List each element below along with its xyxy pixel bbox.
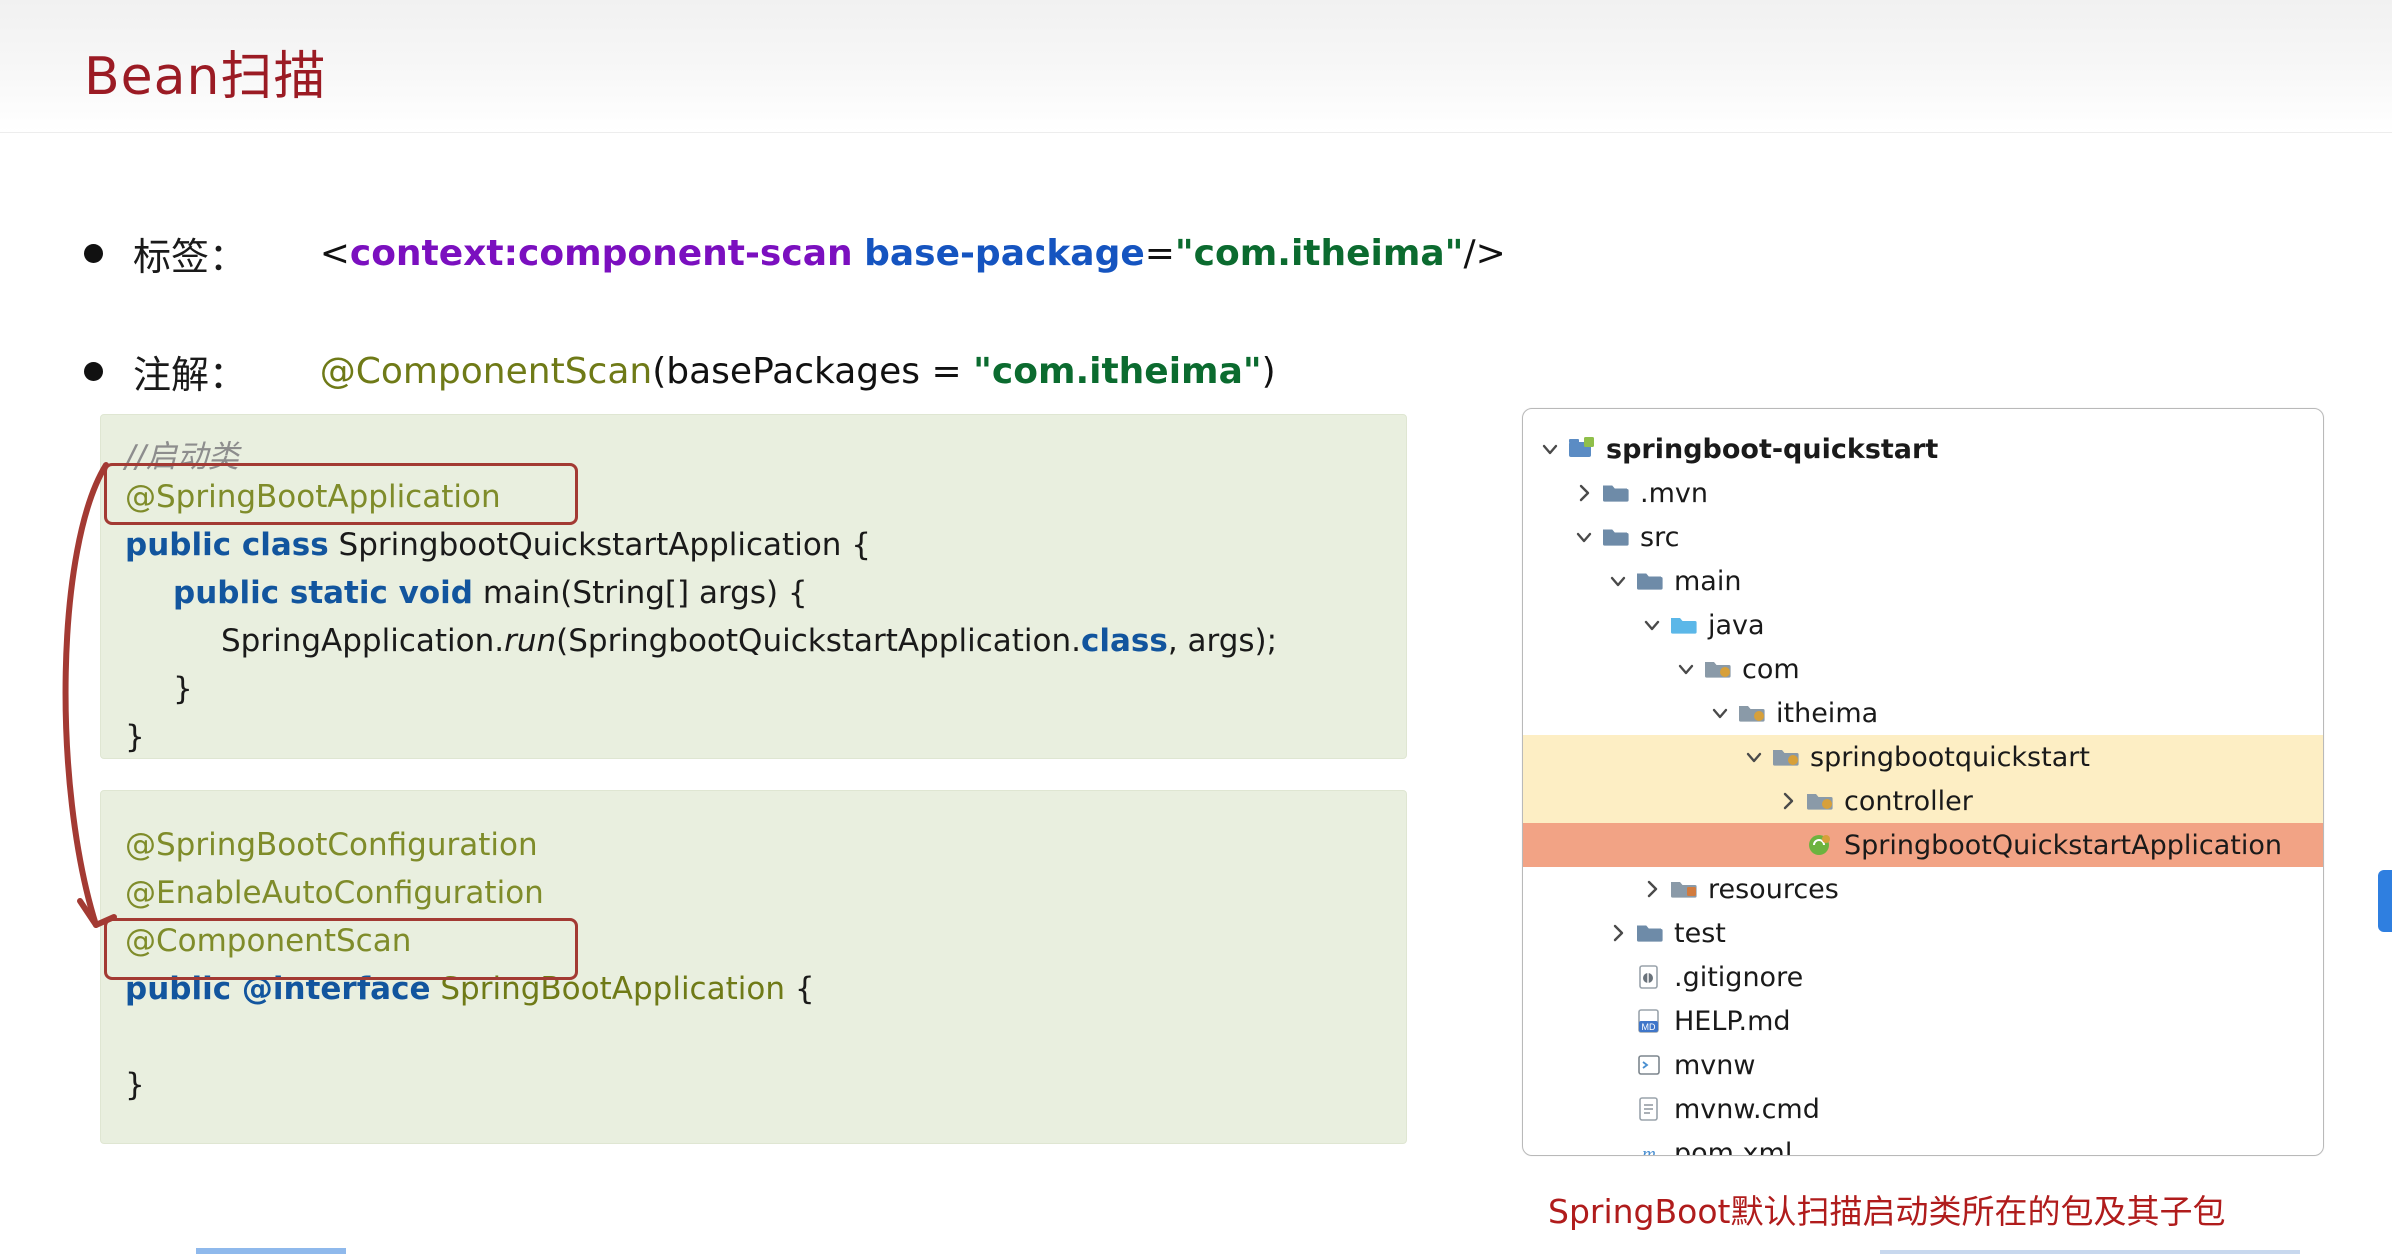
code1-line-3: public static void main(String[] args) { <box>173 575 808 611</box>
bottom-progress-right <box>1880 1250 2300 1254</box>
tree-row[interactable]: mpom.xml <box>1523 1131 2323 1156</box>
bullet-dot-icon <box>84 362 103 381</box>
package-icon <box>1737 700 1767 726</box>
code2-line-0: @SpringBootConfiguration <box>125 827 538 863</box>
tree-row-label: java <box>1708 612 1765 639</box>
svg-text:MD: MD <box>1642 1022 1656 1032</box>
tree-row[interactable]: mvnw.cmd <box>1523 1087 2323 1131</box>
code2-line-1: @EnableAutoConfiguration <box>125 875 544 911</box>
tree-spacer <box>1605 1140 1631 1156</box>
tree-row-label: mvnw <box>1674 1052 1755 1079</box>
connector-arc <box>48 455 168 945</box>
bullet-row-tag: 标签： <context:component-scan base-package… <box>84 192 1506 315</box>
tree-row-label: main <box>1674 568 1741 595</box>
folder-icon <box>1601 524 1631 550</box>
chevron-down-icon[interactable] <box>1707 700 1733 726</box>
code1-line-4: SpringApplication.run(SpringbootQuicksta… <box>221 623 1277 659</box>
tag-code-snippet: <context:component-scan base-package="co… <box>251 192 1506 315</box>
tree-spacer <box>1605 964 1631 990</box>
gitignore-icon <box>1635 964 1665 990</box>
chevron-down-icon[interactable] <box>1673 656 1699 682</box>
tag-code-part-5: "com.itheima" <box>1175 233 1464 274</box>
tag-code-part-3: base-package <box>864 233 1145 274</box>
code1-line-5: } <box>173 671 193 707</box>
code2-line-4: } <box>125 1067 145 1103</box>
tree-row-label: HELP.md <box>1674 1008 1791 1035</box>
title-band <box>0 0 2392 133</box>
tree-row[interactable]: test <box>1523 911 2323 955</box>
tree-row-label: resources <box>1708 876 1839 903</box>
tree-row-label: .mvn <box>1640 480 1708 507</box>
chevron-down-icon[interactable] <box>1639 612 1665 638</box>
tag-code-part-4: = <box>1145 233 1175 274</box>
tree-row-label: controller <box>1844 788 1973 815</box>
chevron-right-icon[interactable] <box>1605 920 1631 946</box>
tree-row-label: src <box>1640 524 1679 551</box>
tree-spacer <box>1775 832 1801 858</box>
chevron-down-icon[interactable] <box>1741 744 1767 770</box>
tree-spacer <box>1605 1096 1631 1122</box>
maven-icon: m <box>1635 1140 1665 1156</box>
bottom-progress-left <box>196 1248 346 1254</box>
code1-line-2: public class SpringbootQuickstartApplica… <box>125 527 871 563</box>
spring-class-icon <box>1805 832 1835 858</box>
folder-icon <box>1635 568 1665 594</box>
tree-spacer <box>1605 1008 1631 1034</box>
slide-root: Bean扫描 标签： <context:component-scan base-… <box>0 0 2392 1254</box>
tree-caption: SpringBoot默认扫描启动类所在的包及其子包 <box>1548 1185 2225 1233</box>
chevron-down-icon[interactable] <box>1605 568 1631 594</box>
tree-row[interactable]: .mvn <box>1523 471 2323 515</box>
tree-row[interactable]: springboot-quickstart <box>1523 427 2323 471</box>
tree-row[interactable]: itheima <box>1523 691 2323 735</box>
tree-row[interactable]: MDHELP.md <box>1523 999 2323 1043</box>
code2-line-3: public @interface SpringBootApplication … <box>125 971 815 1007</box>
tree-row[interactable]: main <box>1523 559 2323 603</box>
scroll-indicator <box>2378 870 2392 932</box>
tree-row-label: test <box>1674 920 1726 947</box>
chevron-down-icon[interactable] <box>1537 436 1563 462</box>
tree-row[interactable]: .gitignore <box>1523 955 2323 999</box>
tree-spacer <box>1605 1052 1631 1078</box>
tag-code-part-6: /> <box>1463 233 1505 274</box>
code-block-annotation-definition: @SpringBootConfiguration @EnableAutoConf… <box>100 790 1407 1144</box>
package-icon <box>1805 788 1835 814</box>
chevron-down-icon[interactable] <box>1571 524 1597 550</box>
tree-row[interactable]: java <box>1523 603 2323 647</box>
bullet-dot-icon <box>84 244 103 263</box>
package-icon <box>1771 744 1801 770</box>
shell-icon <box>1635 1052 1665 1078</box>
tree-row[interactable]: resources <box>1523 867 2323 911</box>
tree-row[interactable]: controller <box>1523 779 2323 823</box>
cmd-icon <box>1635 1096 1665 1122</box>
tree-row-label: .gitignore <box>1674 964 1803 991</box>
tree-row-label: SpringbootQuickstartApplication <box>1844 832 2282 859</box>
chevron-right-icon[interactable] <box>1775 788 1801 814</box>
tree-row-label: springbootquickstart <box>1810 744 2090 771</box>
tree-row-label: com <box>1742 656 1800 683</box>
project-tree[interactable]: springboot-quickstart.mvnsrcmainjavacomi… <box>1523 427 2323 1156</box>
source-folder-icon <box>1669 612 1699 638</box>
tag-code-part-2 <box>853 233 864 274</box>
folder-icon <box>1635 920 1665 946</box>
module-icon <box>1567 436 1597 462</box>
chevron-right-icon[interactable] <box>1639 876 1665 902</box>
code-block-startup-class: //启动类 @SpringBootApplication public clas… <box>100 414 1407 759</box>
tree-row[interactable]: mvnw <box>1523 1043 2323 1087</box>
tree-row-label: mvnw.cmd <box>1674 1096 1820 1123</box>
tree-row-label: springboot-quickstart <box>1606 436 1938 463</box>
page-title: Bean扫描 <box>84 34 327 109</box>
code1-line-1: @SpringBootApplication <box>125 479 501 515</box>
ann-code-part-0: @ComponentScan <box>320 351 653 392</box>
folder-icon <box>1601 480 1631 506</box>
ann-code-part-2: "com.itheima" <box>973 351 1262 392</box>
tree-row[interactable]: springbootquickstart <box>1523 735 2323 779</box>
chevron-right-icon[interactable] <box>1571 480 1597 506</box>
ann-code-part-3: ) <box>1262 351 1276 392</box>
tree-row[interactable]: com <box>1523 647 2323 691</box>
project-tree-panel[interactable]: springboot-quickstart.mvnsrcmainjavacomi… <box>1522 408 2324 1156</box>
resources-folder-icon <box>1669 876 1699 902</box>
tree-row-label: itheima <box>1776 700 1878 727</box>
tag-code-part-0: < <box>320 233 350 274</box>
tree-row-label: pom.xml <box>1674 1140 1792 1157</box>
ann-code-part-1: (basePackages = <box>652 351 973 392</box>
markdown-icon: MD <box>1635 1008 1665 1034</box>
svg-text:m: m <box>1642 1144 1656 1156</box>
package-icon <box>1703 656 1733 682</box>
tree-row[interactable]: SpringbootQuickstartApplication <box>1523 823 2323 867</box>
bullet-label-annotation: 注解： <box>133 344 247 399</box>
tree-row[interactable]: src <box>1523 515 2323 559</box>
bullet-label-tag: 标签： <box>133 226 247 281</box>
tag-code-part-1: context:component-scan <box>350 233 853 274</box>
